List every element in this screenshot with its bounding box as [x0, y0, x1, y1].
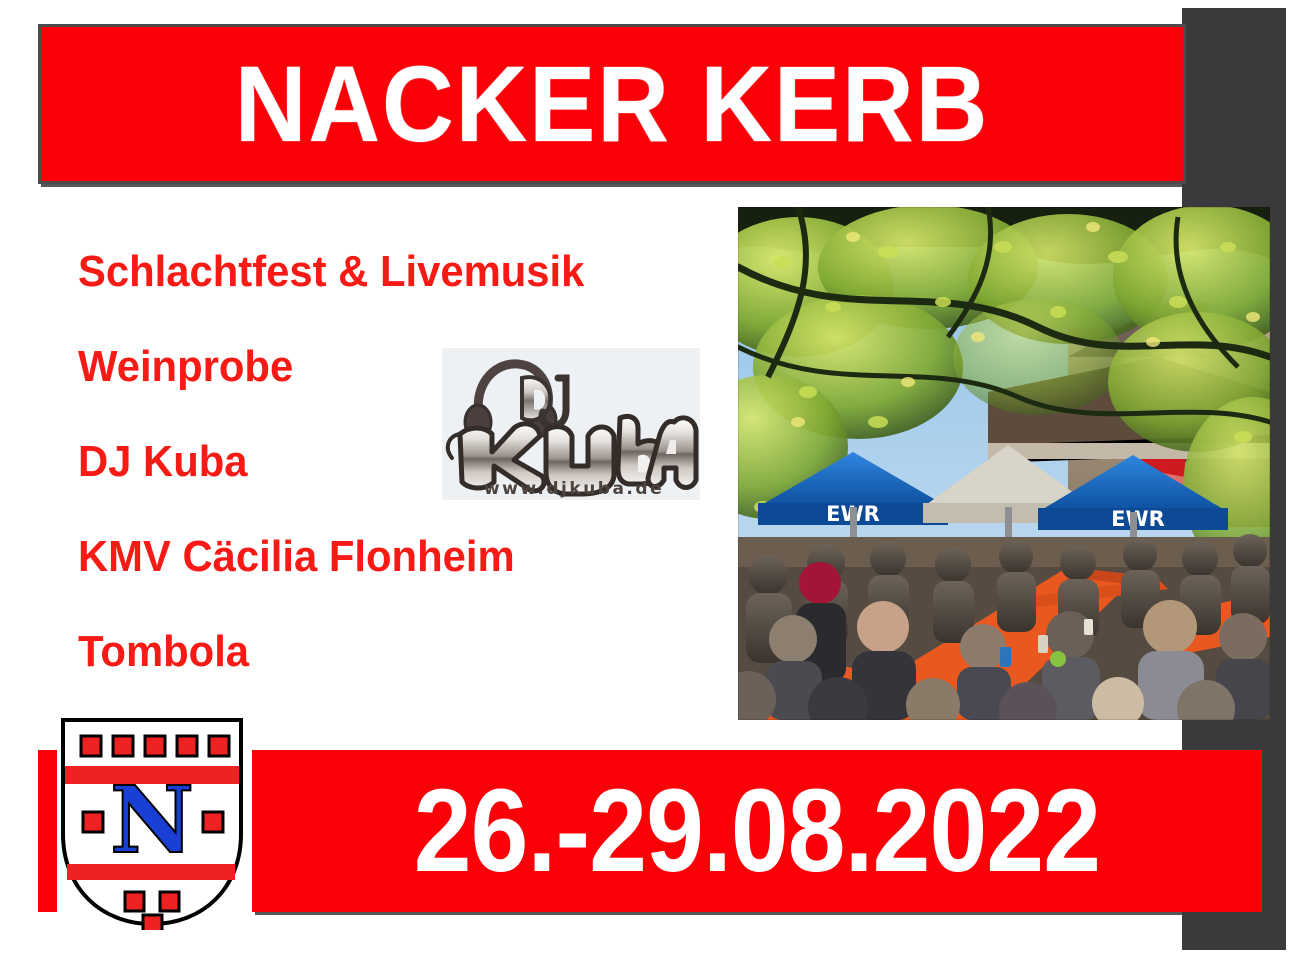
crowd	[738, 534, 1270, 720]
crest-side-square-left	[83, 812, 103, 832]
date-banner-left-stub	[38, 750, 57, 912]
date-banner: 26.-29.08.2022	[252, 750, 1262, 912]
dj-kuba-website: www.djkuba.de	[484, 479, 664, 499]
list-item: Schlachtfest & Livemusik	[78, 250, 696, 294]
nack-coat-of-arms: N	[57, 716, 247, 930]
event-date: 26.-29.08.2022	[414, 772, 1100, 890]
list-item: Tombola	[78, 630, 696, 674]
poster-canvas: NACKER KERB Schlachtfest & Livemusik Wei…	[0, 0, 1298, 975]
crest-band-lower	[67, 864, 235, 880]
title-banner: NACKER KERB	[38, 24, 1186, 184]
dj-kuba-logo: www.djkuba.de	[442, 348, 700, 500]
kerb-festival-photo: EWR EWR	[738, 207, 1270, 720]
parasol-brand-label: EWR	[1111, 507, 1165, 531]
crest-side-square-right	[203, 812, 223, 832]
crest-letter: N	[110, 766, 194, 874]
page-title: NACKER KERB	[235, 50, 989, 158]
list-item: KMV Cäcilia Flonheim	[78, 535, 696, 579]
